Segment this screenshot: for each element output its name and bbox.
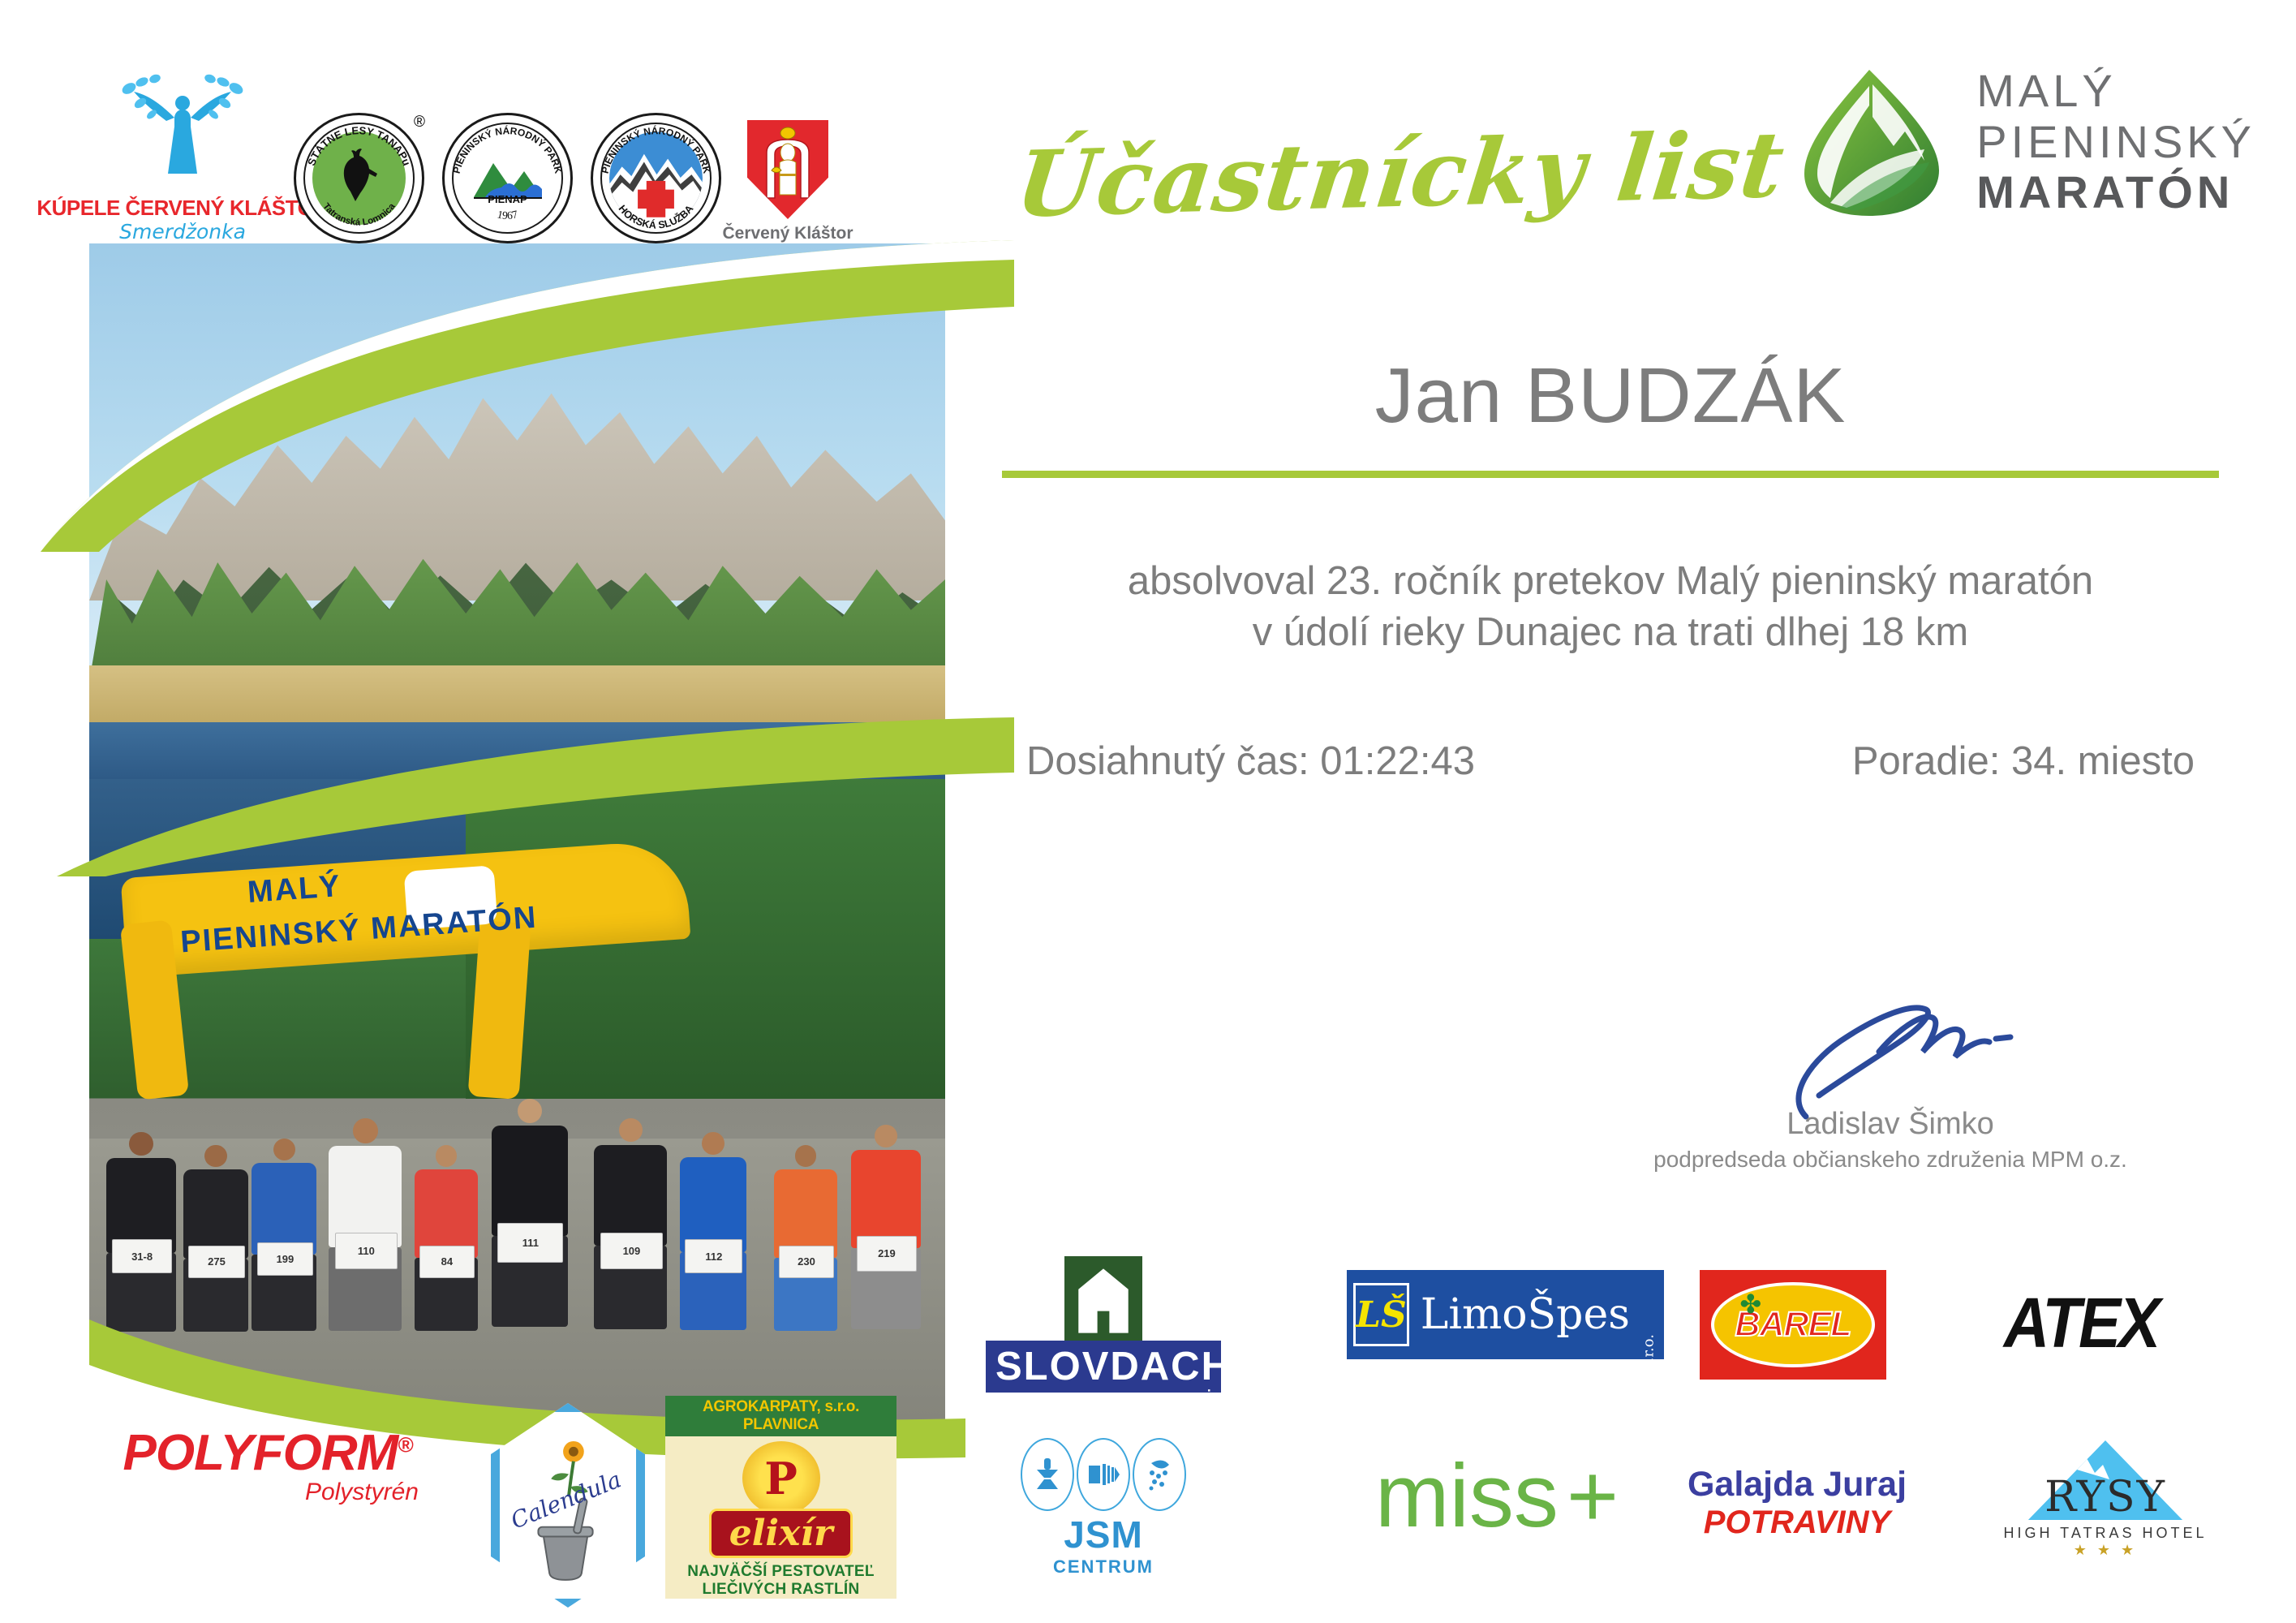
sponsor-miss-name: miss: [1375, 1461, 1559, 1532]
agrokarpaty-badge-letter: P: [764, 1453, 798, 1505]
calendula-hexagon-frame: Calendula: [491, 1403, 645, 1608]
brand-wordmark: MALÝ PIENINSKÝ MARATÓN: [1976, 66, 2255, 218]
partner-label-cerveny-klastor: Červený Kláštor: [722, 224, 853, 243]
certificate-body: Jan BUDZÁK absolvoval 23. ročník preteko…: [1002, 357, 2219, 784]
mountain-rescue-cross-seal-icon: PIENINSKÝ NÁRODNÝ PARK HORSKÁ SLUŽBA: [591, 113, 721, 243]
partner-name-kupele: KÚPELE ČERVENÝ KLÁŠTOR: [37, 197, 328, 218]
partner-logo-kupele-cerveny-klastor: KÚPELE ČERVENÝ KLÁŠTOR Smerdžonka: [89, 67, 276, 243]
sponsor-jsm-centrum: JSM CENTRUM: [986, 1438, 1221, 1578]
sponsor-agrokarpaty: AGROKARPATY, s.r.o. PLAVNICA P elixír NA…: [665, 1396, 896, 1599]
partner-subtitle-kupele: Smerdžonka: [119, 220, 246, 243]
partner-logo-horska-sluzba: PIENINSKÝ NÁRODNÝ PARK HORSKÁ SLUŽBA: [591, 113, 721, 243]
agrokarpaty-bottom-2: LIEČIVÝCH RASTLÍN: [702, 1581, 859, 1599]
sponsor-barel: ✤ BAREL: [1700, 1270, 1886, 1380]
recipient-name: Jan BUDZÁK: [1002, 357, 2219, 435]
runner: 31-8: [106, 1132, 176, 1338]
partner-logo-pieninsky-narodny-park: PIENINSKÝ NÁRODNÝ PARK 1967 PIENAP: [442, 113, 573, 243]
photo-pieniny-landscape: [89, 243, 945, 779]
sponsor-slovdach-name: SLOVDACH s.r.o.: [986, 1341, 1221, 1393]
sponsor-atex: ATEX: [1951, 1286, 2211, 1360]
green-divider: [1002, 471, 2219, 478]
runner: 111: [492, 1099, 568, 1338]
finish-time: Dosiahnutý čas: 01:22:43: [1026, 738, 1475, 784]
agrokarpaty-header: AGROKARPATY, s.r.o. PLAVNICA: [665, 1396, 896, 1436]
svg-text:PIENINSKÝ NÁRODNÝ PARK: PIENINSKÝ NÁRODNÝ PARK: [600, 124, 713, 174]
signatory-name: Ladislav Šimko: [1631, 1107, 2150, 1142]
runner: 275: [183, 1145, 248, 1338]
seal-mark-pienap: PIENAP: [488, 193, 527, 205]
green-leaf-mountain-logo-icon: [1795, 65, 1949, 219]
runner-group: 31-8 275 199 110: [89, 1005, 945, 1338]
jsm-icon-row: [986, 1438, 1221, 1511]
sponsor-miss-plus: +: [1567, 1461, 1619, 1532]
runner-bib: 110: [335, 1233, 398, 1269]
sponsor-miss: miss +: [1363, 1461, 1631, 1532]
runner: 110: [329, 1118, 402, 1338]
sponsor-galajda-juraj: Galajda Juraj POTRAVINY: [1663, 1465, 1931, 1541]
house-roof-icon: [1064, 1256, 1142, 1345]
sponsor-slovdach-suffix: s.r.o.: [1198, 1387, 1215, 1429]
svg-text:PIENINSKÝ NÁRODNÝ PARK: PIENINSKÝ NÁRODNÝ PARK: [451, 124, 565, 174]
coat-of-arms-monk-icon: [747, 120, 828, 219]
sponsor-rysy-subtitle: HIGH TATRAS HOTEL: [1988, 1525, 2223, 1542]
runner-bib: 219: [857, 1236, 917, 1272]
agrokarpaty-badge: P: [742, 1441, 820, 1515]
sponsor-galajda-line-1: Galajda Juraj: [1663, 1465, 1931, 1505]
sponsor-polyform-tagline: Polystyrén: [105, 1479, 430, 1506]
certificate-description: absolvoval 23. ročník pretekov Malý pien…: [1002, 556, 2219, 657]
certificate-page: KÚPELE ČERVENÝ KLÁŠTOR Smerdžonka: [0, 0, 2296, 1623]
sponsor-slovdach: SLOVDACH s.r.o.: [986, 1256, 1221, 1393]
runner: 112: [680, 1132, 746, 1338]
brand-line-1: MALÝ: [1976, 66, 2255, 117]
svg-text:Tatranská Lomnica: Tatranská Lomnica: [320, 201, 398, 228]
sponsor-rysy-stars: ★ ★ ★: [1988, 1542, 2223, 1559]
sponsor-limospes-name: LimoŠpes s.r.o.: [1421, 1290, 1658, 1339]
runner: 199: [252, 1139, 316, 1338]
chamois-seal-icon: ŠTÁTNE LESY TANAPu Tatranská Lomnica ®: [294, 113, 424, 243]
seal-ring-text: ŠTÁTNE LESY TANAPu Tatranská Lomnica: [296, 115, 422, 241]
runner-bib: 230: [779, 1246, 834, 1278]
runner-bib: 31-8: [112, 1239, 172, 1274]
signatory-role: podpredseda občianskeho združenia MPM o.…: [1631, 1147, 2150, 1173]
photo-collage: MALÝ PIENINSKÝ MARATÓN 31-8 275 199: [89, 243, 945, 1444]
sponsor-atex-name: ATEX: [1951, 1282, 2211, 1365]
sponsor-jsm-name: JSM: [986, 1513, 1221, 1556]
sponsor-polyform: POLYFORM® Polystyrén: [105, 1424, 430, 1506]
partner-logo-statne-lesy-tanapu: ŠTÁTNE LESY TANAPu Tatranská Lomnica ®: [294, 113, 424, 243]
insulation-icon: [1077, 1438, 1130, 1511]
sponsor-calendula: Calendula: [491, 1412, 645, 1599]
rank-placement: Poradie: 34. miesto: [1852, 738, 2195, 784]
mountain-river-seal-icon: PIENINSKÝ NÁRODNÝ PARK 1967 PIENAP: [442, 113, 573, 243]
runner-bib: 199: [257, 1242, 313, 1276]
sponsor-polyform-name: POLYFORM®: [105, 1424, 430, 1482]
sponsor-limospes-suffix: s.r.o.: [1640, 1334, 1658, 1370]
handwritten-signature-icon: [1631, 998, 2150, 1120]
svg-text:ŠTÁTNE LESY TANAPu: ŠTÁTNE LESY TANAPu: [305, 124, 413, 167]
description-line-2: v údolí rieky Dunajec na trati dlhej 18 …: [1002, 607, 2219, 658]
registered-trademark-icon: ®: [414, 114, 425, 131]
brand-line-2: PIENINSKÝ: [1976, 117, 2255, 168]
svg-text:1967: 1967: [496, 208, 518, 222]
arch-text-line-1: MALÝ: [247, 869, 342, 911]
four-leaf-clover-icon: ✤: [1739, 1289, 1767, 1316]
photo-race-start: MALÝ PIENINSKÝ MARATÓN 31-8 275 199: [89, 779, 945, 1444]
runner-bib: 84: [419, 1246, 475, 1278]
sponsor-limospes: LŠ LimoŠpes s.r.o.: [1347, 1270, 1664, 1359]
signature-block: Ladislav Šimko podpredseda občianskeho z…: [1631, 998, 2150, 1173]
page-title: Účastnícky list: [1011, 112, 1790, 239]
runner-bib: 112: [685, 1239, 742, 1274]
runner: 219: [851, 1125, 921, 1337]
paint-roller-icon: [1021, 1438, 1074, 1511]
runner: 230: [774, 1145, 837, 1338]
partner-logo-strip: KÚPELE ČERVENÝ KLÁŠTOR Smerdžonka: [89, 41, 836, 243]
registered-icon: ®: [398, 1432, 412, 1457]
runner: 84: [415, 1145, 478, 1338]
partner-logo-cerveny-klastor: Červený Kláštor: [739, 120, 836, 243]
sponsor-rysy-hotel: RYSY HIGH TATRAS HOTEL ★ ★ ★: [1988, 1440, 2223, 1559]
runner-bib: 109: [600, 1233, 664, 1269]
agrokarpaty-bottom-1: NAJVÄČŠÍ PESTOVATEĽ: [687, 1563, 875, 1581]
sponsor-jsm-subtitle: CENTRUM: [986, 1556, 1221, 1578]
shower-icon: [1133, 1438, 1186, 1511]
sponsor-agrokarpaty-name: elixír: [709, 1509, 853, 1558]
sponsor-rysy-name: RYSY: [1988, 1473, 2223, 1522]
barel-oval: ✤ BAREL: [1711, 1282, 1874, 1367]
sponsor-galajda-line-2: POTRAVINY: [1663, 1505, 1931, 1541]
angel-water-wings-icon: [101, 67, 264, 197]
description-line-1: absolvoval 23. ročník pretekov Malý pien…: [1002, 556, 2219, 607]
brand-line-3: MARATÓN: [1976, 167, 2255, 218]
results-row: Dosiahnutý čas: 01:22:43 Poradie: 34. mi…: [1002, 738, 2219, 784]
brand-logo: MALÝ PIENINSKÝ MARATÓN: [1795, 65, 2255, 219]
runner-bib: 275: [188, 1246, 244, 1278]
runner-bib: 111: [497, 1223, 563, 1263]
limospes-monogram: LŠ: [1353, 1283, 1409, 1346]
runner: 109: [594, 1118, 667, 1338]
svg-text:HORSKÁ SLUŽBA: HORSKÁ SLUŽBA: [617, 203, 696, 231]
